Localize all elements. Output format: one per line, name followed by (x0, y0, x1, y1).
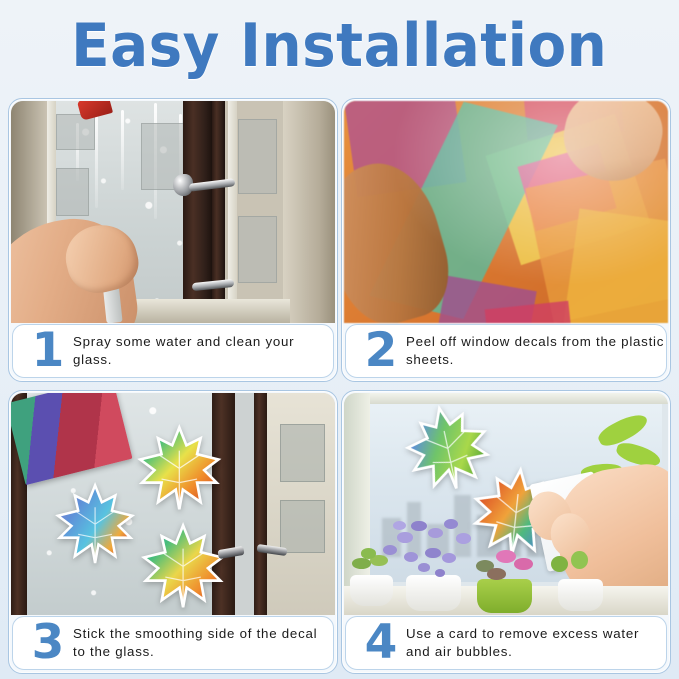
step-2-text: Peel off window decals from the plastic … (402, 333, 666, 369)
green-plant (545, 544, 610, 584)
water-streak (95, 105, 98, 207)
background-building (280, 424, 325, 482)
step-1-caption: 1 Spray some water and clean your glass. (12, 324, 334, 378)
step-3-caption: 3 Stick the smoothing side of the decal … (12, 616, 334, 670)
background-building (280, 500, 325, 553)
step-2-caption: 2 Peel off window decals from the plasti… (345, 324, 667, 378)
flower-pot (558, 579, 603, 610)
step-4-photo (344, 393, 668, 615)
water-streak (121, 110, 124, 190)
step-4-caption: 4 Use a card to remove excess water and … (345, 616, 667, 670)
step-4-text: Use a card to remove excess water and ai… (402, 625, 666, 661)
steps-grid: 1 Spray some water and clean your glass.… (8, 98, 671, 674)
maple-leaf-decal (128, 522, 238, 611)
background-building (238, 216, 277, 283)
window-mullion (228, 101, 237, 323)
window-frame-inner (254, 393, 267, 615)
page-title: Easy Installation (71, 11, 607, 81)
step-card-4: 4 Use a card to remove excess water and … (341, 390, 671, 674)
background-building (56, 114, 95, 150)
window-frame-top (344, 393, 668, 404)
header-bar: Easy Installation (0, 0, 679, 92)
pink-flowers (467, 542, 551, 586)
step-3-photo (11, 393, 335, 615)
background-building (56, 168, 88, 217)
curtain-right (283, 101, 335, 323)
step-2-number: 2 (360, 327, 402, 374)
step-3-text: Stick the smoothing side of the decal to… (69, 625, 333, 661)
background-building (238, 119, 277, 194)
step-card-2: 2 Peel off window decals from the plasti… (341, 98, 671, 382)
step-1-text: Spray some water and clean your glass. (69, 333, 333, 369)
step-card-1: 1 Spray some water and clean your glass. (8, 98, 338, 382)
step-card-3: 3 Stick the smoothing side of the decal … (8, 390, 338, 674)
step-1-number: 1 (27, 327, 69, 374)
film-gloss-highlight (344, 101, 668, 323)
step-3-number: 3 (27, 619, 69, 666)
step-2-photo (344, 101, 668, 323)
step-1-photo (11, 101, 335, 323)
window-frame-inner (212, 101, 225, 323)
step-4-number: 4 (360, 619, 402, 666)
